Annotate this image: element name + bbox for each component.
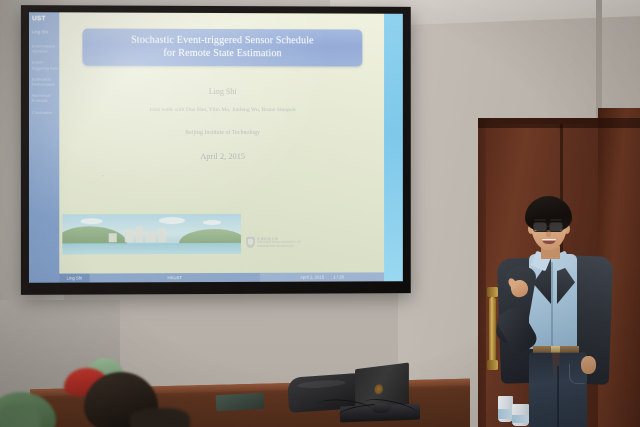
hkust-logo-text: 香港科技大學 THE HONG KONG UNIVERSITY OF SCIEN… [257,236,301,248]
hkust-logo: 香港科技大學 THE HONG KONG UNIVERSITY OF SCIEN… [246,236,301,248]
slide-title-box: Stochastic Event-triggered Sensor Schedu… [82,28,362,66]
wall-edge [596,0,602,120]
shirt-placket [551,262,553,346]
slide-date-marker: * [102,175,105,180]
photo-building [125,229,134,242]
sidebar-author: Ling Shi [29,29,59,34]
presenter [487,196,619,427]
sidebar-nav: Event-based Systems Event-triggering Rul… [29,43,59,114]
nose [546,230,551,237]
slide-affiliation: Beijing Institute of Technology [185,130,260,136]
footline-page-number: 1 / 28 [333,275,344,280]
sidebar-item-1[interactable]: Event-triggering Rule [32,60,58,71]
photo-building [158,228,166,242]
campus-photo [62,214,241,255]
mouse-device[interactable] [372,403,390,413]
footline-author-cell: Ling Shi [59,273,89,282]
photo-sea [62,243,241,255]
footline-institute: HKUST [167,275,182,280]
shield-icon [246,236,255,247]
bag-highlight [297,379,345,389]
screen-surface: UST Ling Shi Event-based Systems Event-t… [29,12,403,283]
audience-shoulder [130,408,190,427]
footline-author: Ling Shi [67,276,83,281]
photo-building [145,231,156,242]
photo-scene: UST Ling Shi Event-based Systems Event-t… [0,0,640,427]
laptop-logo-icon [375,384,383,395]
sidebar-item-2[interactable]: Estimation Performance [32,76,58,87]
photo-building [136,226,143,242]
eyebrow-left [534,219,546,221]
slide-title-line-2: for Remote State Estimation [88,47,356,61]
photo-cloud [203,220,221,225]
slide-joint-work: Joint work with Duo Han, Yilin Mo, Junfe… [149,107,296,113]
sidebar-item-0[interactable]: Event-based Systems [32,43,58,54]
beamer-slide: UST Ling Shi Event-based Systems Event-t… [29,12,384,283]
projection-screen: UST Ling Shi Event-based Systems Event-t… [21,5,411,295]
eyebrow-right [550,219,562,221]
slide-date: April 2, 2015 [200,152,245,161]
slide-photo-row: 香港科技大學 THE HONG KONG UNIVERSITY OF SCIEN… [62,214,380,255]
sidebar-item-4[interactable]: Conclusion [32,109,58,114]
slide-content: Stochastic Event-triggered Sensor Schedu… [59,12,384,282]
footline-institute-cell: HKUST [90,273,260,283]
jeans-seam [557,366,559,427]
slide-speaker: Ling Shi [209,87,237,96]
footline-date-cell: April 2, 2015 1 / 28 [260,272,385,281]
phone-on-table[interactable] [216,393,265,411]
right-hand [581,356,596,374]
slide-sidebar: UST Ling Shi Event-based Systems Event-t… [29,12,59,283]
sidebar-item-3[interactable]: Numerical Example [32,93,58,104]
photo-building [109,233,117,242]
glasses-lens-right [549,222,563,232]
footline-date: April 2, 2015 [300,275,324,280]
photo-cloud [80,218,102,224]
glasses-lens-left [533,222,547,232]
slide-title-line-1: Stochastic Event-triggered Sensor Schedu… [88,34,356,48]
photo-cloud [159,217,185,224]
audience-chair [0,404,40,427]
slide-footline: Ling Shi HKUST April 2, 2015 1 / 28 [59,272,384,282]
hkust-logo-english-2: SCIENCE AND TECHNOLOGY [257,244,301,248]
sidebar-logo: UST [29,15,59,23]
glasses-bridge [546,226,550,227]
door-top-shadow [478,118,640,128]
